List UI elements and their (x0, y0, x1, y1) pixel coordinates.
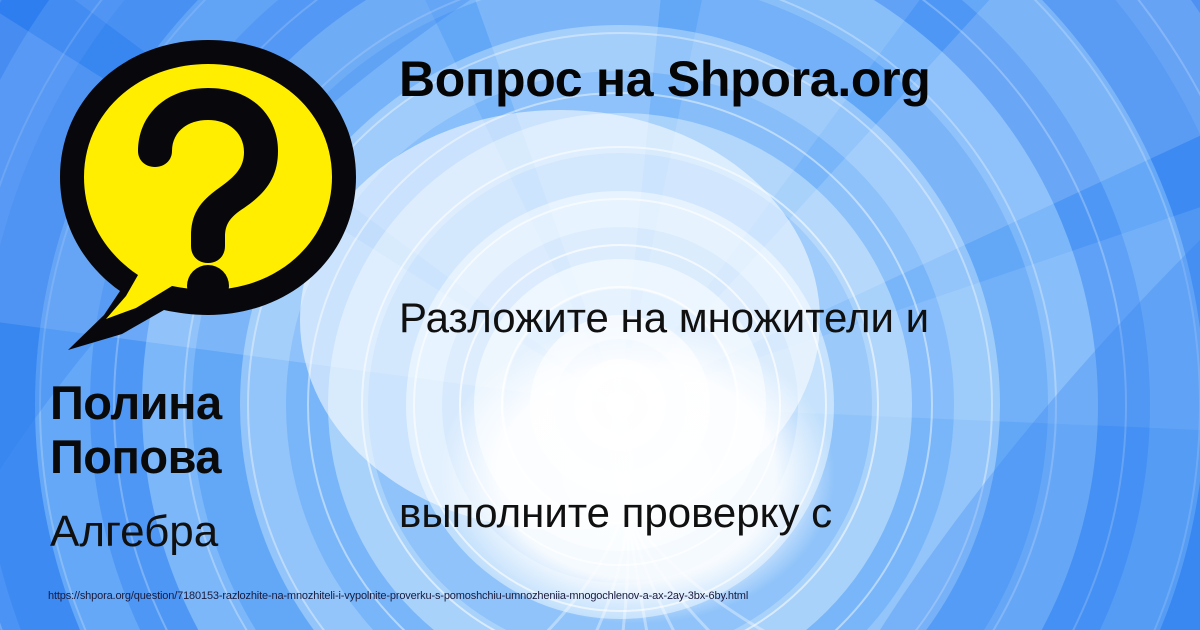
question-line: Разложите на множители и (399, 285, 1119, 350)
question-share-card: Вопрос на Shpora.org Разложите на множит… (0, 0, 1200, 630)
question-speech-bubble-icon (52, 34, 364, 364)
question-line: выполните проверку с (399, 480, 1119, 545)
author-name: Полина Попова (50, 376, 380, 484)
source-url[interactable]: https://shpora.org/question/7180153-razl… (48, 590, 748, 602)
question-text: Разложите на множители и выполните прове… (399, 155, 1119, 630)
subject-label: Алгебра (50, 506, 380, 558)
question-icon-container (52, 34, 364, 364)
page-title: Вопрос на Shpora.org (399, 49, 1169, 109)
